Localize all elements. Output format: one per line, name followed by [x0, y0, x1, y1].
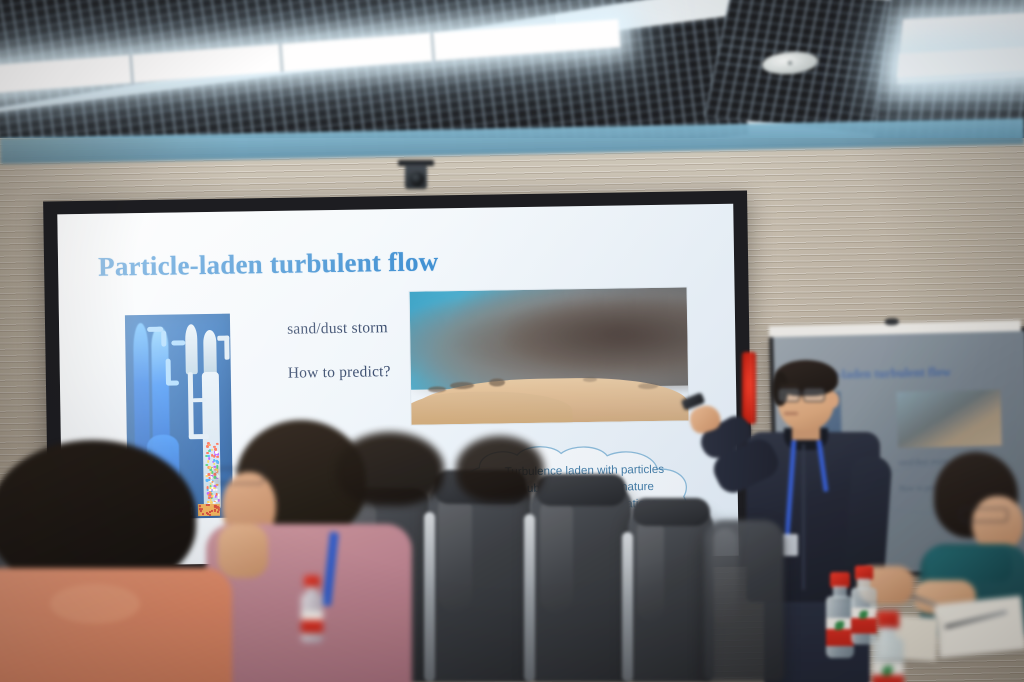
ptz-camera-icon: [398, 160, 434, 176]
water-bottle: [826, 572, 854, 658]
seat-headrest: [632, 498, 710, 526]
water-bottle: [872, 611, 903, 682]
glasses-icon: [960, 508, 1008, 522]
slide-title: Particle-laden turbulent flow: [98, 246, 439, 282]
slide-label-sand-dust-storm: sand/dust storm: [287, 319, 390, 339]
seat-armrest: [524, 514, 535, 682]
presenter-badge: [782, 534, 798, 556]
lecture-hall-photo: Particle-laden turbulent flow t: 0.32000…: [0, 0, 1024, 682]
water-bottle: [301, 575, 323, 642]
attendee-back-row: [330, 432, 450, 542]
monitor-webcam-icon: [885, 318, 899, 325]
auditorium-seat: [704, 520, 784, 682]
slide-labels: sand/dust storm How to predict?: [287, 319, 391, 409]
seat-armrest: [622, 532, 633, 682]
dust-storm-photo: [409, 286, 690, 425]
glasses-icon: [216, 468, 264, 484]
slide-label-how-to-predict: How to predict?: [288, 363, 391, 383]
auditorium-seat: [628, 508, 714, 682]
glasses-icon: [778, 388, 828, 401]
attendee-coral-top: [0, 440, 222, 682]
attendee-back-row: [452, 436, 548, 532]
seat-headrest: [536, 474, 626, 506]
